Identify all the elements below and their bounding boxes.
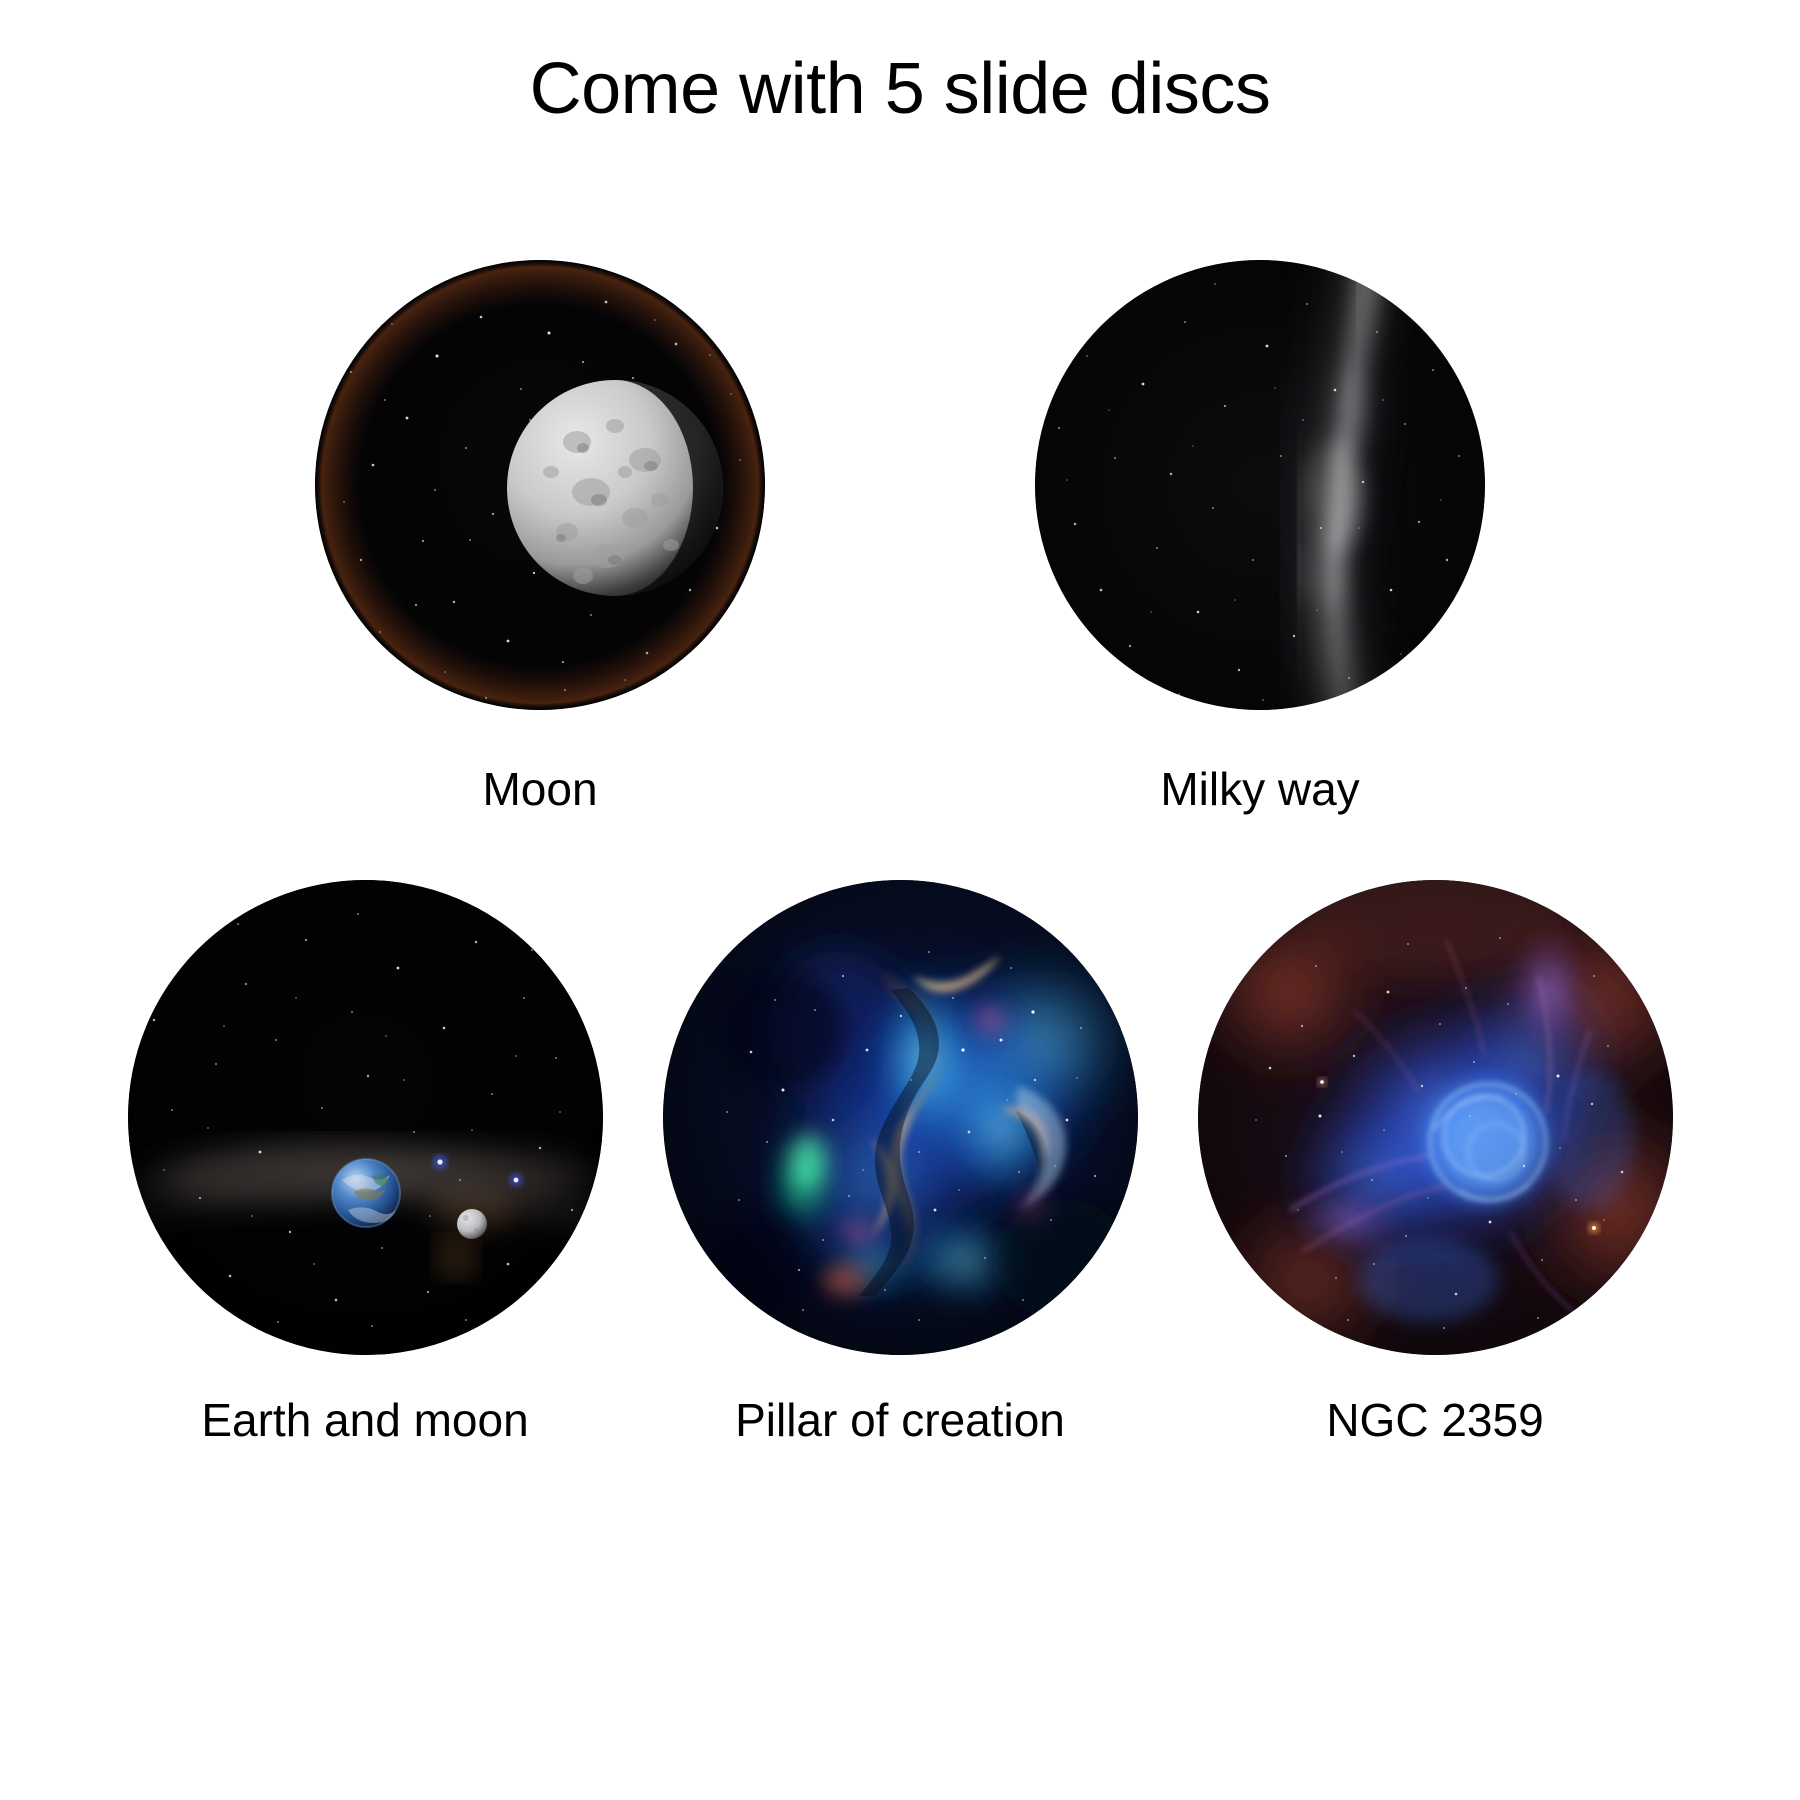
page-title: Come with 5 slide discs (0, 48, 1800, 131)
poster-root: Come with 5 slide discs (0, 0, 1800, 1800)
disc-row-top: Moon (0, 260, 1800, 816)
disc-row-bottom: Earth and moon (0, 880, 1800, 1447)
disc-label-moon: Moon (482, 762, 597, 816)
ngc-2359-disc[interactable] (1198, 880, 1673, 1355)
disc-cell-pillar-of-creation[interactable]: Pillar of creation (663, 880, 1138, 1447)
disc-cell-moon[interactable]: Moon (315, 260, 765, 816)
pillar-of-creation-disc[interactable] (663, 880, 1138, 1355)
disc-label-ngc-2359: NGC 2359 (1326, 1393, 1543, 1447)
disc-label-earth-and-moon: Earth and moon (201, 1393, 528, 1447)
disc-cell-milky-way[interactable]: Milky way (1035, 260, 1485, 816)
disc-cell-earth-and-moon[interactable]: Earth and moon (128, 880, 603, 1447)
disc-cell-ngc-2359[interactable]: NGC 2359 (1198, 880, 1673, 1447)
milky-way-disc[interactable] (1035, 260, 1485, 710)
disc-label-pillar-of-creation: Pillar of creation (735, 1393, 1065, 1447)
moon-disc[interactable] (315, 260, 765, 710)
earth-and-moon-disc[interactable] (128, 880, 603, 1355)
disc-label-milky-way: Milky way (1160, 762, 1359, 816)
